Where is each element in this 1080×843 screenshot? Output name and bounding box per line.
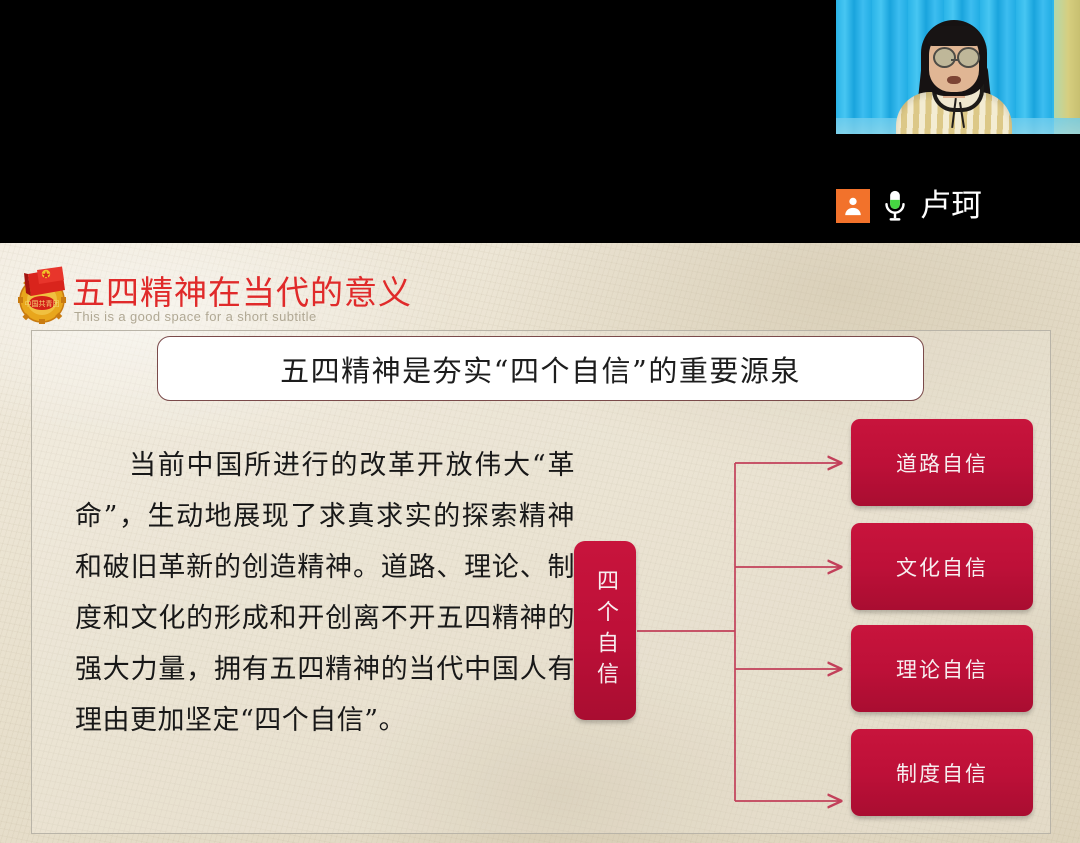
diagram-branch-node-2[interactable]: 理论自信 — [851, 625, 1033, 712]
svg-text:中国共青团: 中国共青团 — [25, 299, 60, 308]
diagram-center-node-label: 四个自信 — [594, 569, 616, 693]
video-conference-region: 卢珂 — [0, 0, 1080, 243]
diagram-branch-label: 道路自信 — [896, 448, 988, 478]
diagram-branch-label: 理论自信 — [896, 654, 988, 684]
diagram-center-node[interactable]: 四个自信 — [574, 541, 636, 720]
diagram-branch-label: 制度自信 — [896, 758, 988, 788]
body-paragraph: 当前中国所进行的改革开放伟大“革命”，生动地展现了求真求实的探索精神和破旧革新的… — [75, 440, 575, 746]
person-icon[interactable] — [836, 189, 870, 223]
speaker-name: 卢珂 — [920, 191, 982, 222]
presentation-slide: 中国共青团 五四精神在当代的意义 This is a good space fo… — [0, 243, 1080, 843]
diagram-branch-node-0[interactable]: 道路自信 — [851, 419, 1033, 506]
glasses-bridge — [951, 59, 958, 61]
speaker-status-bar: 卢珂 — [836, 189, 982, 223]
hair-fringe — [927, 26, 981, 46]
section-heading-box: 五四精神是夯实“四个自信”的重要源泉 — [157, 336, 924, 401]
screen: 卢珂 中国共青团 五四精神在当代的意义 This is — [0, 0, 1080, 843]
curtain-right-edge — [1054, 0, 1080, 134]
diagram-branch-node-1[interactable]: 文化自信 — [851, 523, 1033, 610]
glasses-lens-right — [957, 47, 980, 68]
page-subtitle: This is a good space for a short subtitl… — [74, 309, 317, 324]
mouth — [947, 76, 961, 84]
section-heading-text: 五四精神是夯实“四个自信”的重要源泉 — [280, 348, 801, 390]
communist-youth-league-emblem-icon: 中国共青团 — [13, 264, 75, 326]
webcam-video-tile[interactable] — [836, 0, 1080, 134]
microphone-icon[interactable] — [880, 189, 910, 223]
glasses-lens-left — [933, 47, 956, 68]
diagram-branch-node-3[interactable]: 制度自信 — [851, 729, 1033, 816]
diagram-branch-label: 文化自信 — [896, 552, 988, 582]
page-title: 五四精神在当代的意义 — [72, 266, 412, 314]
